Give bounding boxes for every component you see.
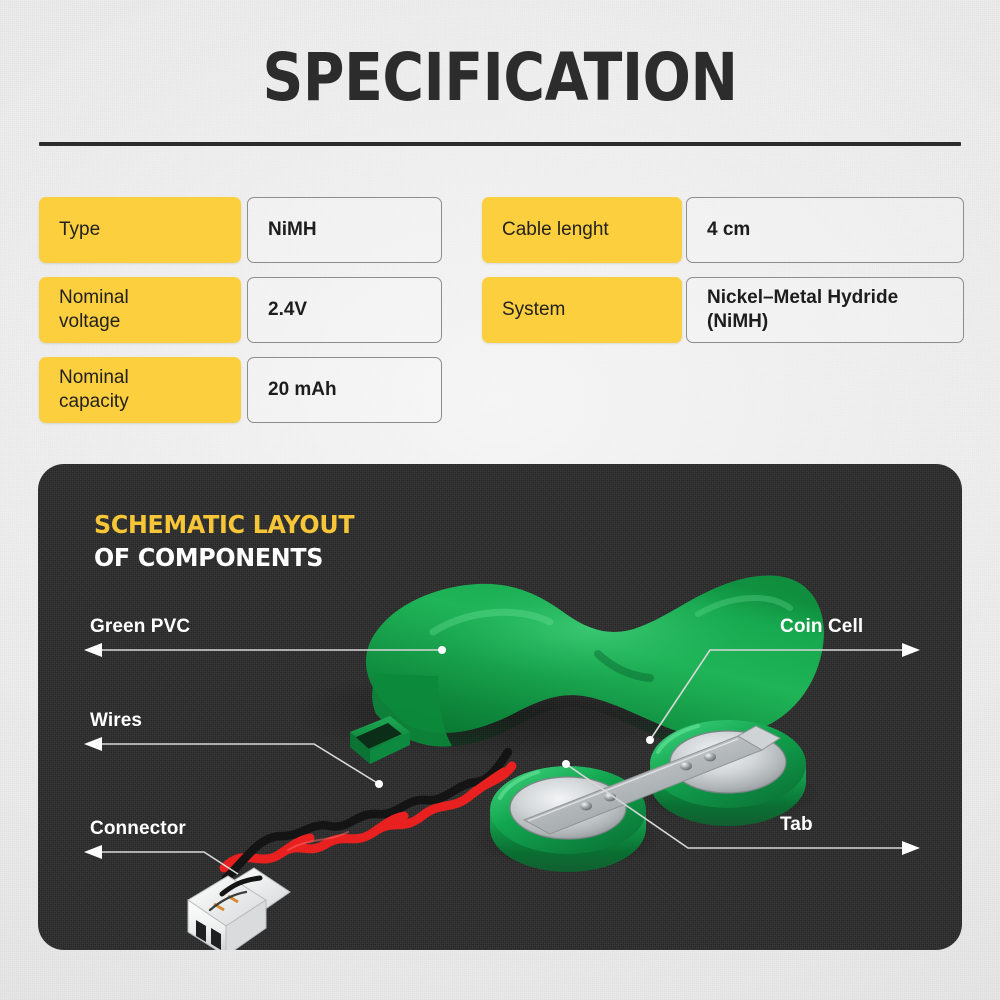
callout-label-green-pvc: Green PVC: [90, 616, 190, 638]
schematic-panel: SCHEMATIC LAYOUT OF COMPONENTS: [38, 464, 962, 950]
spec-label-cable-length: Cable lenght: [482, 197, 682, 263]
title-divider: [39, 142, 961, 146]
spec-column-left: Type NiMH Nominalvoltage 2.4V Nominalcap…: [39, 197, 442, 437]
spec-value-nominal-capacity: 20 mAh: [247, 357, 442, 423]
leader-wires: [100, 744, 379, 784]
callout-label-coin-cell: Coin Cell: [780, 616, 863, 638]
spec-row: Type NiMH: [39, 197, 442, 263]
arrowhead-connector-icon: [84, 845, 102, 859]
leader-dot-coin-cell: [646, 736, 654, 744]
spec-value-nominal-voltage: 2.4V: [247, 277, 442, 343]
leader-dot-wires: [375, 780, 383, 788]
page-title: SPECIFICATION: [70, 45, 930, 111]
callout-label-connector: Connector: [90, 818, 186, 840]
leader-dot-green-pvc: [438, 646, 446, 654]
callout-label-wires: Wires: [90, 710, 142, 732]
spec-row: Nominalcapacity 20 mAh: [39, 357, 442, 423]
spec-value-type: NiMH: [247, 197, 442, 263]
spec-label-nominal-capacity: Nominalcapacity: [39, 357, 241, 423]
spec-value-cable-length: 4 cm: [686, 197, 964, 263]
spec-label-system: System: [482, 277, 682, 343]
spec-value-system: Nickel–Metal Hydride (NiMH): [686, 277, 964, 343]
spec-row: Nominalvoltage 2.4V: [39, 277, 442, 343]
arrowhead-tab-icon: [902, 841, 920, 855]
arrowhead-green-pvc-icon: [84, 643, 102, 657]
callout-label-tab: Tab: [780, 814, 813, 836]
spec-row: System Nickel–Metal Hydride (NiMH): [482, 277, 964, 343]
spec-label-nominal-voltage: Nominalvoltage: [39, 277, 241, 343]
leader-connector: [100, 852, 238, 874]
callout-leader-lines: [38, 464, 962, 950]
spec-column-right: Cable lenght 4 cm System Nickel–Metal Hy…: [482, 197, 964, 357]
leader-coin-cell: [650, 650, 904, 740]
spec-row: Cable lenght 4 cm: [482, 197, 964, 263]
leader-tab: [566, 764, 904, 848]
arrowhead-coin-cell-icon: [902, 643, 920, 657]
arrowhead-wires-icon: [84, 737, 102, 751]
leader-dot-tab: [562, 760, 570, 768]
spec-label-type: Type: [39, 197, 241, 263]
